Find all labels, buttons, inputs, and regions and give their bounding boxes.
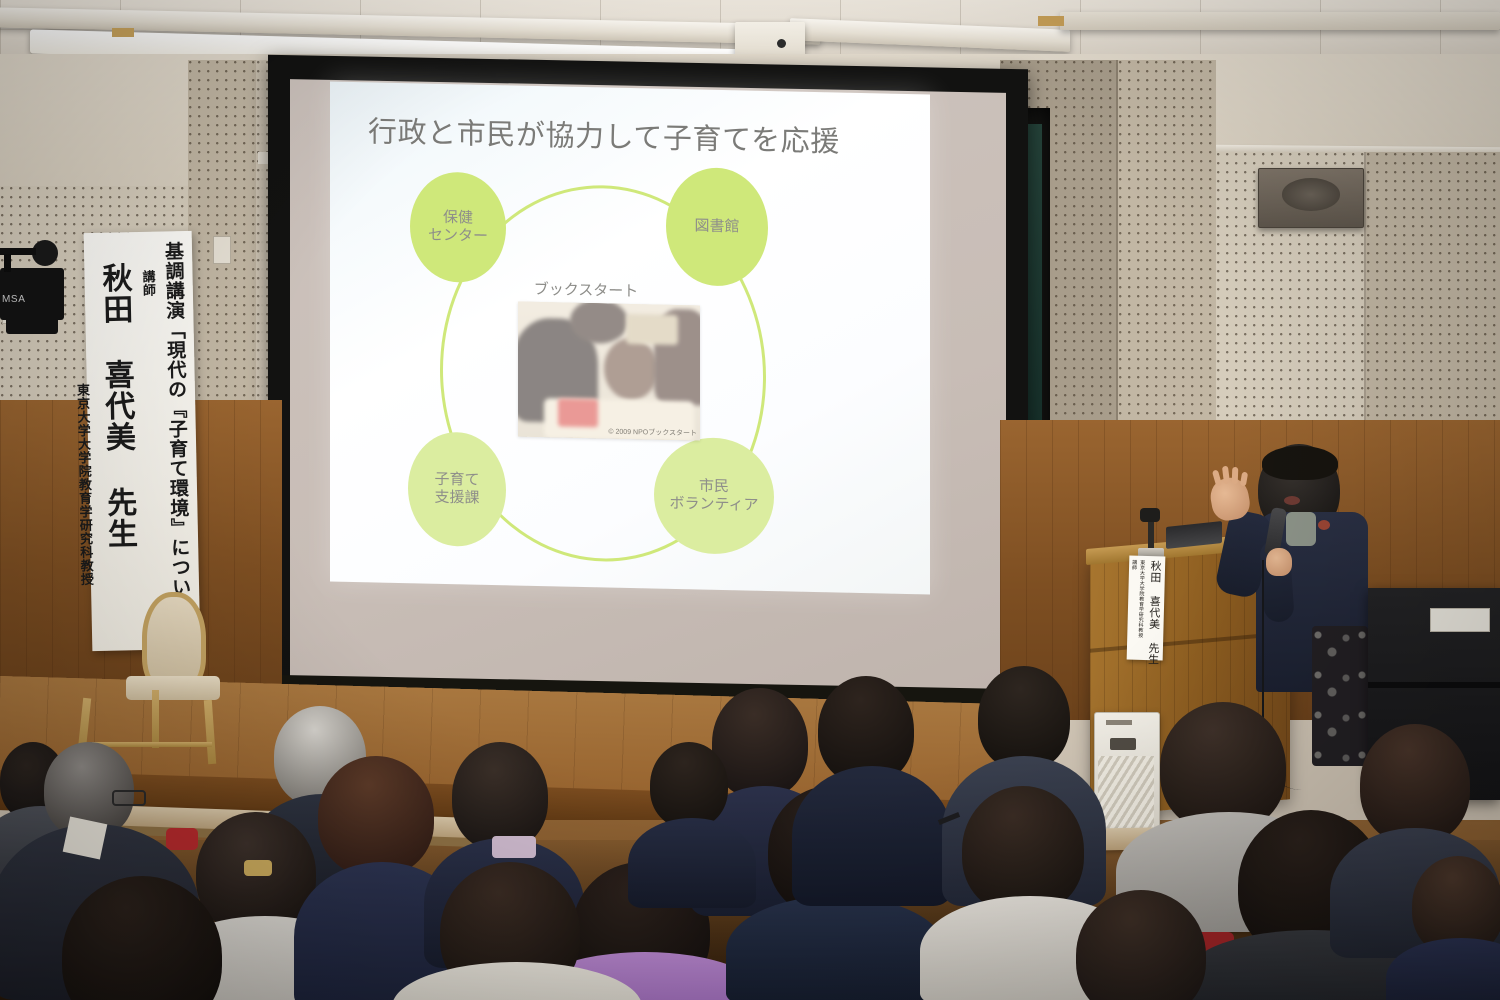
- stage-chair-leg-back: [152, 690, 159, 748]
- center-photo-label: ブックスタート: [516, 278, 656, 302]
- attendee-head: [318, 756, 434, 876]
- photo-projection-wash: [518, 302, 700, 441]
- bubble-library: 図書館: [666, 167, 768, 287]
- speaker-skirt: [1312, 626, 1368, 766]
- attendee-eyeglasses: [112, 790, 146, 806]
- stage-chair-stretcher: [92, 742, 212, 747]
- air-conditioner-vent: [1110, 738, 1136, 750]
- camera-brand-label: MSA: [2, 294, 25, 305]
- attendee-head: [978, 666, 1070, 770]
- desk-red-pouch: [166, 828, 198, 850]
- air-conditioner-grille: [1098, 756, 1154, 836]
- acoustic-panel-right-c: [1366, 152, 1500, 452]
- banner-affiliation: 東京大学大学院教育学研究科教授: [73, 383, 96, 586]
- ceiling-light-rail-far: [1060, 12, 1500, 30]
- attendee-head: [452, 742, 548, 850]
- banner-speaker-name: 秋田 喜代美 先生: [91, 262, 141, 550]
- bubble-childcare-line1: 子育て: [434, 471, 479, 490]
- speaker-scarf: [1286, 512, 1316, 546]
- attendee-inner-collar: [492, 836, 536, 858]
- bubble-volunteer-line1: 市民: [699, 478, 729, 496]
- attendee-head: [962, 786, 1084, 914]
- panel-seam-2: [1116, 60, 1118, 460]
- piano-label-sticker: [1430, 608, 1490, 632]
- lecture-banner: 基調講演「現代の『子育て環境』について考える」 講師 秋田 喜代美 先生 東京大…: [84, 231, 201, 651]
- attendee-hair-clip: [244, 860, 272, 876]
- banner-speaker-role: 講師: [138, 270, 158, 297]
- lecture-hall-photo: 行政と市民が協力して子育てを応援 保健 センター 図書館 子育て 支援課 市民 …: [0, 0, 1500, 1000]
- video-camera-mic: [4, 254, 11, 272]
- bubble-health-center-line2: センター: [428, 227, 488, 246]
- wall-mounted-speaker: [1258, 168, 1364, 228]
- attendee-shoulders: [726, 896, 946, 1000]
- stage-chair-seat: [126, 676, 220, 700]
- podium-name-placard: 秋田 喜代美 先生 東京大学大学院教育学研究科教授 講師: [1127, 556, 1166, 661]
- bubble-childcare-line2: 支援課: [434, 489, 479, 508]
- speaker-finger-3: [1232, 467, 1239, 484]
- wall-junction-box: [213, 236, 231, 264]
- bubble-childcare-dept: 子育て 支援課: [408, 431, 506, 547]
- video-camera-base: [6, 316, 58, 334]
- acoustic-panel-right-a: [1118, 60, 1216, 460]
- slide-title: 行政と市民が協力して子育てを応援: [368, 108, 840, 160]
- speaker-lapel-pin: [1318, 520, 1330, 530]
- air-conditioner-logo: [1106, 720, 1132, 725]
- ceiling-bracket-right: [1038, 16, 1064, 26]
- speaker-hair-fringe: [1262, 446, 1338, 480]
- bubble-health-center-line1: 保健: [443, 209, 473, 227]
- center-photo: © 2009 NPOブックスタート: [518, 302, 700, 441]
- attendee-collar: [63, 816, 108, 859]
- ceiling-sensor-dot: [777, 39, 786, 48]
- piano-lid-line: [1368, 682, 1500, 688]
- bubble-library-line1: 図書館: [694, 218, 739, 237]
- speaker-mouth: [1284, 496, 1300, 505]
- podium-microphone-head: [1140, 508, 1160, 522]
- panel-seam-1: [1364, 152, 1366, 452]
- attendee-shoulders: [792, 766, 952, 906]
- attendee-shoulders: [628, 818, 756, 908]
- placard-name: 秋田 喜代美 先生: [1145, 560, 1164, 656]
- ceiling-bracket-left: [112, 28, 134, 37]
- attendee-head: [1360, 724, 1470, 844]
- bubble-volunteer-line2: ボランティア: [669, 495, 758, 515]
- attendee-head: [650, 742, 728, 828]
- bubble-health-center: 保健 センター: [410, 171, 506, 283]
- projected-slide: 行政と市民が協力して子育てを応援 保健 センター 図書館 子育て 支援課 市民 …: [330, 81, 930, 594]
- photo-credit: © 2009 NPOブックスタート: [608, 427, 697, 439]
